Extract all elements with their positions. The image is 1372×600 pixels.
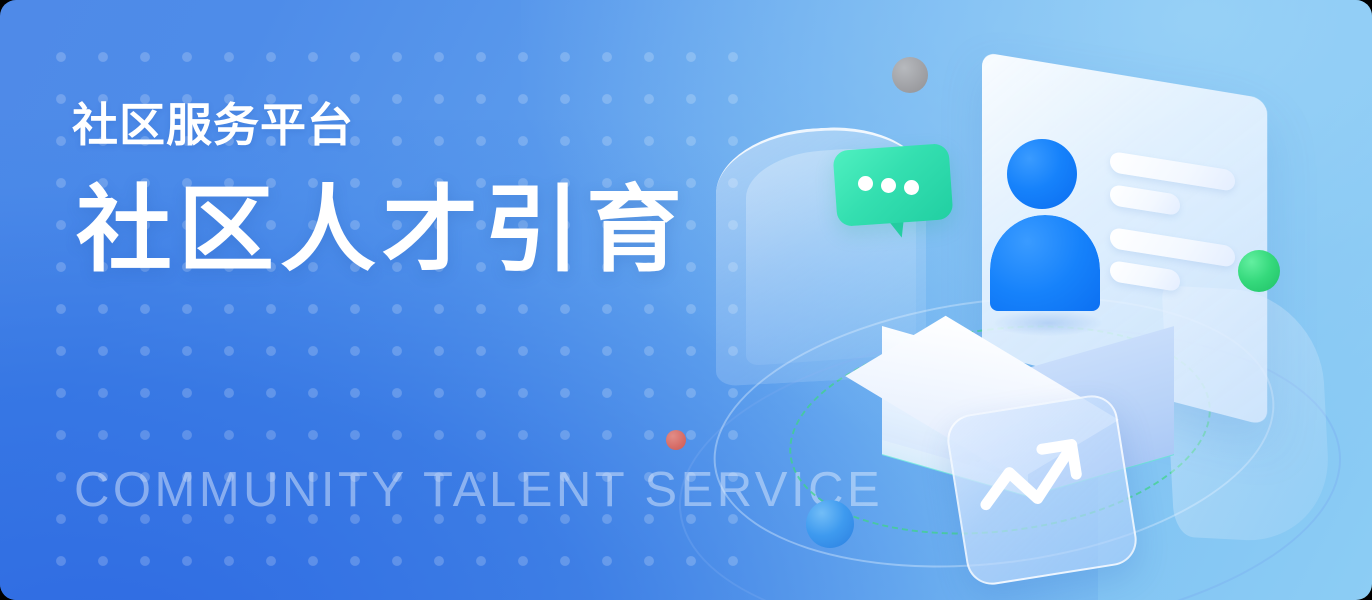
right-glass-band <box>1162 285 1333 544</box>
profile-card <box>982 52 1267 426</box>
page-title: 社区人才引育 <box>76 180 847 280</box>
banner-text-block: 社区服务平台 社区人才引育 <box>72 96 832 280</box>
banner-subtitle: 社区服务平台 <box>72 96 832 154</box>
card-text-bar <box>1110 260 1180 292</box>
card-text-bar <box>1110 227 1235 268</box>
user-avatar-body <box>990 215 1100 325</box>
cube-face-top <box>845 316 1119 480</box>
inner-orbit-ring <box>777 303 1223 557</box>
teal-ghost-sphere <box>1262 242 1298 278</box>
chat-bubble-tail <box>885 215 905 238</box>
red-dot <box>666 430 686 450</box>
user-avatar-shadow <box>994 310 1102 336</box>
trending-up-arrow-icon <box>944 392 1136 584</box>
outer-orbit-ring <box>698 267 1290 598</box>
card-text-bar <box>1110 184 1180 216</box>
card-text-bar <box>1110 151 1235 192</box>
user-avatar-head <box>1007 139 1077 209</box>
cube-glow-edge-left <box>882 440 1028 497</box>
banner-english-tagline: COMMUNITY TALENT SERVICE <box>74 462 883 518</box>
green-sphere <box>1238 250 1280 292</box>
chat-bubble <box>832 143 953 227</box>
cube-face-right <box>1028 326 1174 496</box>
cube-glow-edge-right <box>1028 440 1174 497</box>
cube-face-left <box>882 326 1028 496</box>
growth-chart-tile <box>944 392 1141 589</box>
gray-sphere <box>892 57 928 93</box>
community-talent-banner: 社区服务平台 社区人才引育 COMMUNITY TALENT SERVICE <box>0 0 1372 600</box>
chat-bubble-dot <box>904 180 919 195</box>
chat-bubble-dot <box>858 176 873 191</box>
chat-bubble-shadow <box>839 148 960 232</box>
profile-card-edge <box>990 56 1275 430</box>
soft-orbit-ring <box>666 302 1354 600</box>
chat-bubble-dot <box>881 178 896 193</box>
